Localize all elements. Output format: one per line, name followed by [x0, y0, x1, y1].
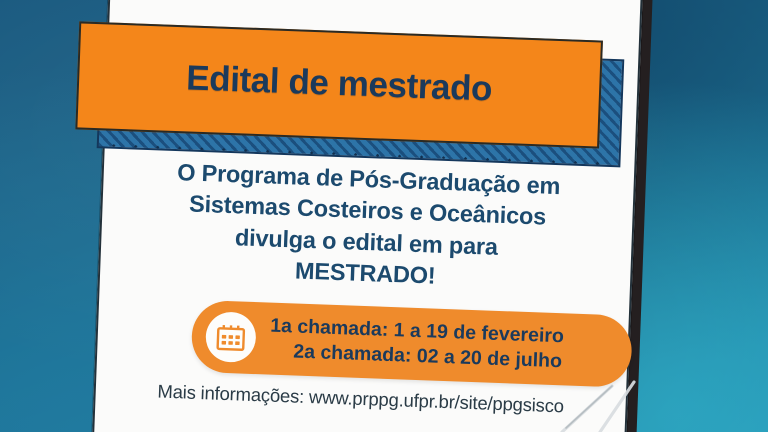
title-banner: Edital de mestrado	[75, 21, 603, 148]
poster-title: Edital de mestrado	[186, 58, 493, 109]
poster-body-text: O Programa de Pós-Graduação em Sistemas …	[122, 155, 612, 298]
title-banner-block: Edital de mestrado	[75, 21, 598, 144]
calendar-icon	[205, 311, 257, 363]
poster-sheet: Edital de mestrado O Programa de Pós-Gra…	[91, 0, 644, 432]
poster-scene: Edital de mestrado O Programa de Pós-Gra…	[0, 0, 768, 432]
dates-pill: 1a chamada: 1 a 19 de fevereiro 2a chama…	[191, 300, 633, 388]
poster-sheet-wrapper: Edital de mestrado O Programa de Pós-Gra…	[91, 0, 640, 432]
dates-pill-text: 1a chamada: 1 a 19 de fevereiro 2a chama…	[269, 313, 564, 374]
